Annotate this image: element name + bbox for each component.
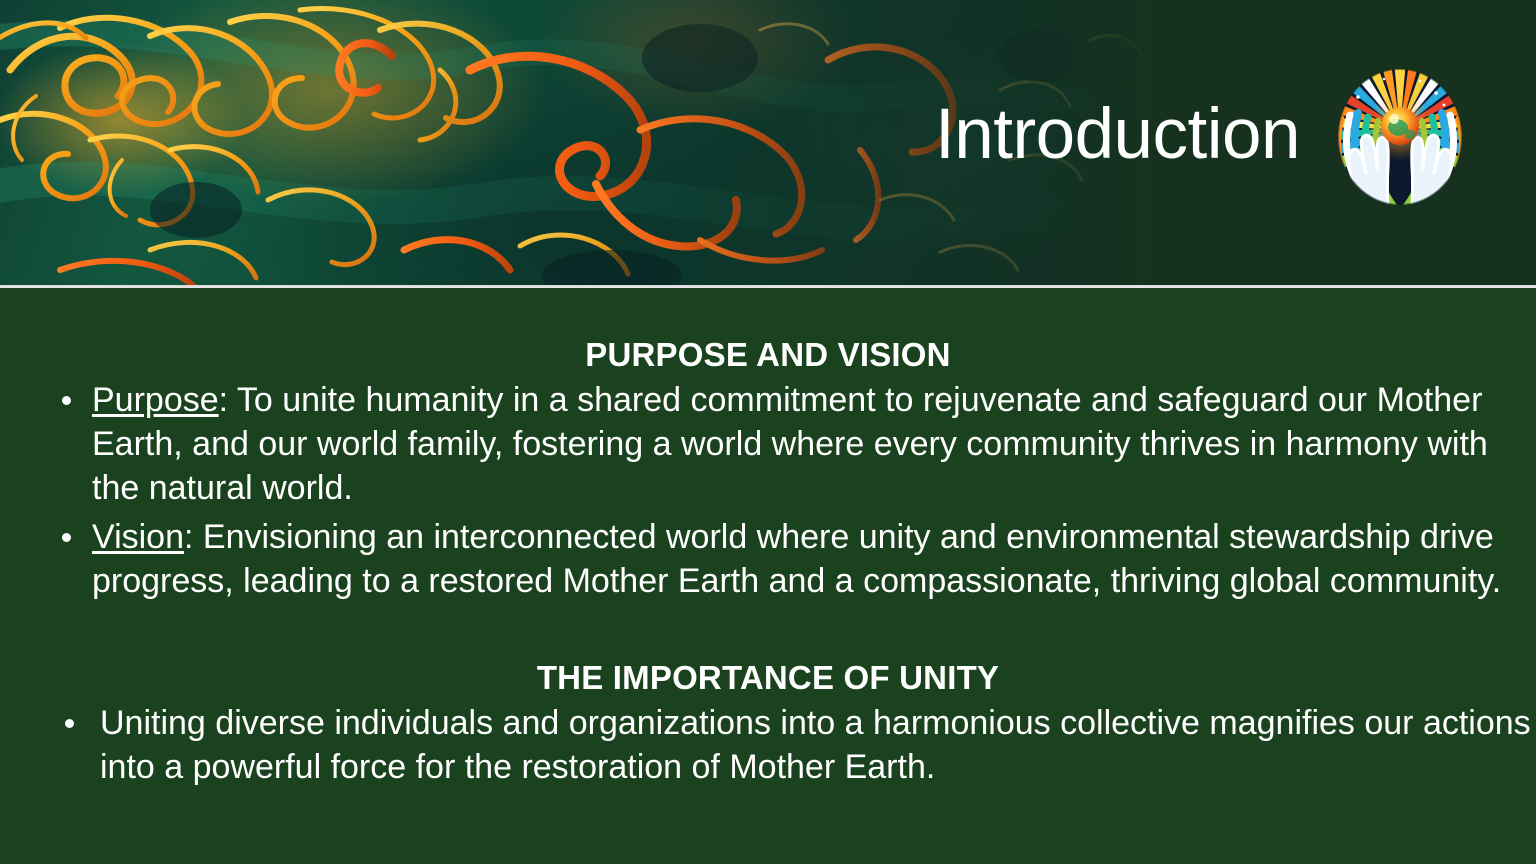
slide-body: PURPOSE AND VISION Purpose: To unite hum…	[0, 302, 1536, 864]
list-item: Purpose: To unite humanity in a shared c…	[0, 378, 1536, 511]
presentation-slide: Introduction	[0, 0, 1536, 864]
unity-hands-earth-logo-icon	[1324, 61, 1476, 213]
bullet-body-text: Uniting diverse individuals and organiza…	[100, 704, 1531, 786]
bullet-body-text: : Envisioning an interconnected world wh…	[92, 518, 1501, 600]
purpose-vision-bullet-list: Purpose: To unite humanity in a shared c…	[0, 378, 1536, 603]
unity-bullet-list: Uniting diverse individuals and organiza…	[0, 701, 1536, 789]
page-title: Introduction	[935, 99, 1335, 170]
banner-divider	[0, 285, 1536, 288]
list-item: Vision: Envisioning an interconnected wo…	[0, 515, 1536, 603]
list-item: Uniting diverse individuals and organiza…	[0, 701, 1536, 789]
section-heading-purpose-and-vision: PURPOSE AND VISION	[0, 336, 1536, 374]
slide-banner: Introduction	[0, 0, 1536, 288]
bullet-lead-label: Purpose	[92, 381, 219, 419]
bullet-body-text: : To unite humanity in a shared commitme…	[92, 381, 1488, 507]
bullet-lead-label: Vision	[92, 518, 184, 556]
section-heading-importance-of-unity: THE IMPORTANCE OF UNITY	[0, 659, 1536, 697]
